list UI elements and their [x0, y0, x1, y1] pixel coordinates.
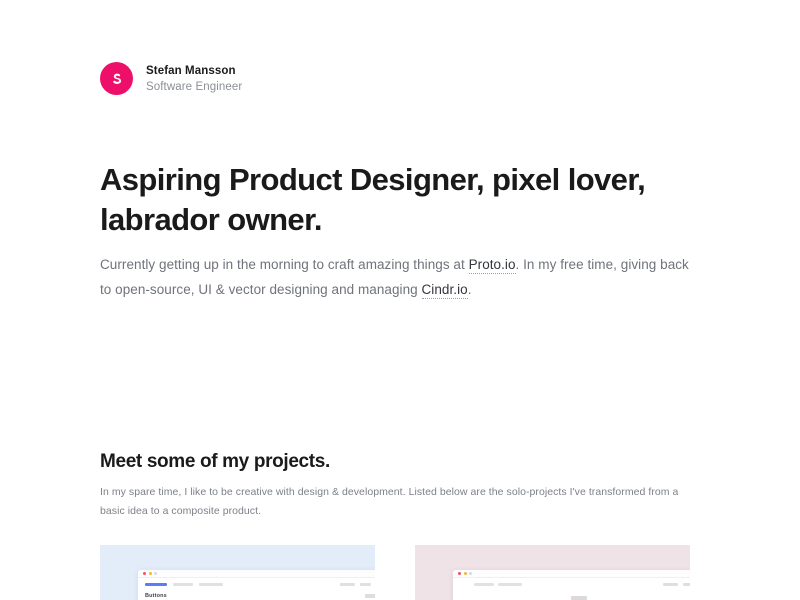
mockup-nav-item — [173, 583, 193, 586]
link-proto-io[interactable]: Proto.io — [469, 257, 516, 274]
brand-identity[interactable]: Stefan Mansson Software Engineer — [100, 62, 242, 95]
s-monogram-logo-icon — [100, 62, 133, 95]
link-cindr-io[interactable]: Cindr.io — [422, 282, 468, 299]
maximize-dot-icon — [154, 572, 157, 575]
close-dot-icon — [143, 572, 146, 575]
mockup-content-row — [460, 593, 690, 600]
mockup-heading: Buttons — [145, 593, 167, 599]
project-card-1[interactable]: Buttons — [100, 545, 375, 600]
minimize-dot-icon — [149, 572, 152, 575]
mockup-nav-right-group — [340, 583, 375, 586]
brand-name: Stefan Mansson — [146, 63, 242, 79]
page-title: Aspiring Product Designer, pixel lover, … — [100, 160, 720, 240]
mockup-nav-right-item — [683, 583, 690, 586]
mockup-navbar — [460, 583, 690, 586]
close-dot-icon — [458, 572, 461, 575]
mockup-nav-item-active — [145, 583, 167, 586]
projects-grid: Buttons — [100, 545, 690, 600]
hero-description: Currently getting up in the morning to c… — [100, 252, 690, 302]
brand-role: Software Engineer — [146, 79, 242, 95]
brand-text-group: Stefan Mansson Software Engineer — [146, 63, 242, 95]
mockup-nav-right-group — [663, 583, 690, 586]
mockup-nav-right-item — [663, 583, 678, 586]
browser-titlebar — [453, 570, 690, 578]
mockup-navbar — [145, 583, 375, 586]
projects-section-title: Meet some of my projects. — [100, 449, 330, 475]
mockup-nav-item — [199, 583, 223, 586]
browser-viewport — [453, 578, 690, 600]
mockup-nav-right-item — [360, 583, 371, 586]
projects-section-description: In my spare time, I like to be creative … — [100, 483, 690, 521]
browser-titlebar — [138, 570, 375, 578]
browser-mockup-2 — [453, 570, 690, 600]
minimize-dot-icon — [464, 572, 467, 575]
project-card-2[interactable] — [415, 545, 690, 600]
browser-viewport: Buttons — [138, 578, 375, 599]
hero-text-segment-3: . — [468, 282, 472, 297]
mockup-nav-item — [474, 583, 494, 586]
hero-text-segment-1: Currently getting up in the morning to c… — [100, 257, 469, 272]
mockup-center-placeholder — [571, 596, 587, 600]
portfolio-page: Stefan Mansson Software Engineer Aspirin… — [0, 0, 800, 600]
mockup-content-row: Buttons — [145, 593, 375, 599]
mockup-nav-item — [498, 583, 522, 586]
mockup-nav-right-item — [340, 583, 355, 586]
maximize-dot-icon — [469, 572, 472, 575]
mockup-button-placeholder — [365, 594, 375, 598]
browser-mockup-1: Buttons — [138, 570, 375, 600]
